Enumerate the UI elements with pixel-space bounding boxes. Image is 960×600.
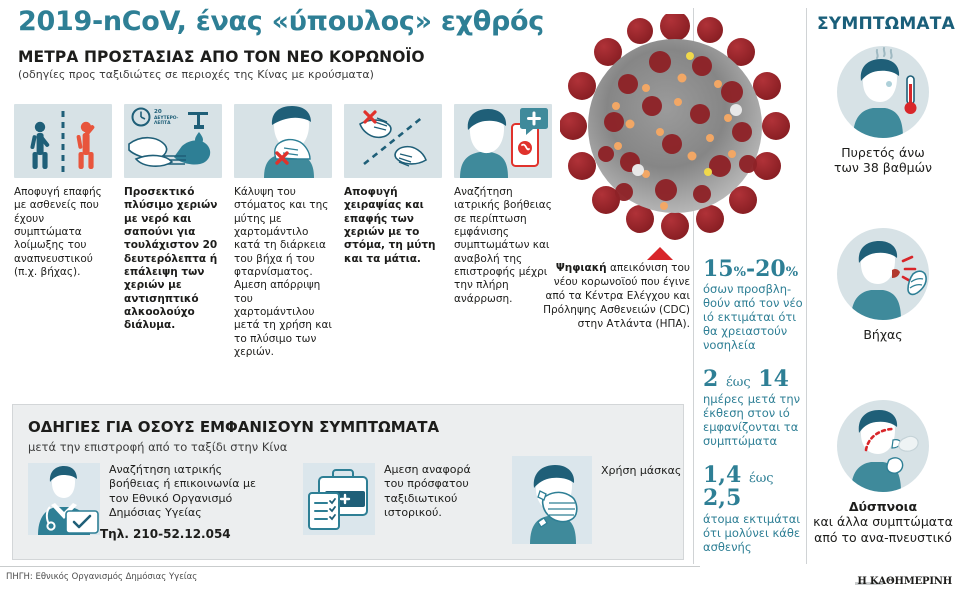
virus-pointer-arrow-icon [647, 247, 673, 260]
stat-2-text: ημέρες μετά την έκθεση στον ιό εμφανίζον… [703, 392, 803, 448]
symptom-2-line1: Βήχας [863, 327, 902, 342]
guide-text-1: Αναζήτηση ιατρικής βοήθειας ή επικοινωνί… [109, 463, 258, 520]
guide-subtitle: μετά την επιστροφή από το ταξίδι στην Κί… [28, 440, 287, 454]
stats-column: 15%-20% όσων προσβλη­θούν από τον νέο ιό… [703, 258, 803, 570]
handwashing-icon: 20 ΔΕΥΤΕΡΟ- ΛΕΠΤΑ [124, 104, 222, 178]
symptom-2-label: Βήχας [808, 327, 958, 342]
stat-1-connector: - [746, 256, 755, 282]
measures-columns: Αποφυγή επαφής με ασθενείς που έχουν συμ… [14, 104, 562, 359]
page-title: 2019-nCoV, ένας «ύπουλος» εχθρός [18, 6, 544, 37]
stat-item-1: 15%-20% όσων προσβλη­θούν από τον νέο ιό… [703, 258, 803, 352]
symptom-item-2: Βήχας [808, 228, 958, 342]
stat-3-value-b: 2,5 [703, 485, 741, 511]
divider-symptoms [806, 8, 807, 564]
fever-thermometer-icon [837, 46, 929, 138]
guide-item-2: Αμεση αναφορά του πρόσφατου ταξιδιωτικού… [303, 463, 483, 535]
guide-title: ΟΔΗΓΙΕΣ ΓΙΑ ΟΣΟΥΣ ΕΜΦΑΝΙΣΟΥΝ ΣΥΜΠΤΩΜΑΤΑ [28, 418, 439, 436]
symptom-1-label: Πυρετός άνω των 38 βαθμών [808, 145, 958, 176]
guide-item-3: Χρήση μάσκας [512, 456, 682, 544]
cough-icon [837, 228, 929, 320]
measure-item-1: Αποφυγή επαφής με ασθενείς που έχουν συμ… [14, 104, 112, 359]
guide-phone: Τηλ. 210-52.12.054 [100, 527, 258, 541]
stat-1-value-a: 15 [703, 256, 734, 282]
measures-heading: ΜΕΤΡΑ ΠΡΟΣΤΑΣΙΑΣ ΑΠΟ ΤΟΝ ΝΕΟ ΚΟΡΩΝΟΪΟ [18, 48, 425, 66]
symptoms-heading: ΣΥΜΠΤΩΜΑΤΑ [817, 14, 955, 34]
stat-item-3: 1,4 έως 2,5 άτομα εκτιμάται ότι μολύνει … [703, 464, 803, 553]
infographic-page: 2019-nCoV, ένας «ύπουλος» εχθρός ΜΕΤΡΑ Π… [0, 0, 960, 600]
stat-2-value-b: 14 [758, 366, 789, 392]
stat-3-text: άτομα εκτιμάται ότι μολύνει κάθε ασθενής [703, 512, 803, 554]
guide-text-2: Αμεση αναφορά του πρόσφατου ταξιδιωτικού… [384, 463, 483, 520]
measure-text-4: Αποφυγή χειραψίας και επαφής των χεριών … [344, 186, 442, 266]
virus-caption: Ψηφιακή απεικόνιση του νέου κορωνοϊού πο… [540, 262, 690, 332]
symptom-item-3: Δύσπνοια και άλλα συμπτώματα από το ανα-… [808, 400, 958, 545]
svg-text:20: 20 [154, 109, 162, 115]
shortness-of-breath-icon [837, 400, 929, 492]
source-text: ΠΗΓΗ: Εθνικός Οργανισμός Δημόσιας Υγείας [6, 572, 197, 582]
stat-1-unit-b: % [786, 265, 798, 280]
symptom-3-bold: Δύσπνοια [849, 499, 917, 514]
no-handshake-icon [344, 104, 442, 178]
svg-text:ΛΕΠΤΑ: ΛΕΠΤΑ [154, 120, 171, 126]
measure-text-5: Αναζήτηση ιατρικής βοήθειας σε περίπτωση… [454, 186, 552, 306]
symptom-item-1: Πυρετός άνω των 38 βαθμών [808, 46, 958, 176]
stat-2-connector: έως [726, 375, 751, 390]
footer-divider [0, 566, 700, 567]
measure-text-2: Προσεκτικό πλύσιμο χεριών με νερό και σα… [124, 186, 222, 333]
measure-text-1: Αποφυγή επαφής με ασθενείς που έχουν συμ… [14, 186, 112, 279]
virus-caption-bold: Ψηφιακή [556, 262, 607, 274]
stat-1-unit-a: % [734, 265, 746, 280]
doctor-checkmark-icon [28, 463, 100, 535]
stat-1-text: όσων προσβλη­θούν από τον νέο ιό εκτιμάτ… [703, 282, 803, 352]
guide-text-3: Χρήση μάσκας [601, 464, 681, 478]
symptom-3-line2: και άλλα συμπτώματα από το ανα-πνευστικό [813, 514, 953, 544]
measure-item-5: Αναζήτηση ιατρικής βοήθειας σε περίπτωση… [454, 104, 552, 359]
guide-item-1: Αναζήτηση ιατρικής βοήθειας ή επικοινωνί… [28, 463, 258, 541]
coronavirus-illustration [560, 14, 790, 246]
measure-text-3: Κάλυψη του στόματος και της μύτης με χαρ… [234, 186, 332, 359]
medical-report-icon [303, 463, 375, 535]
measure-item-4: Αποφυγή χειραψίας και επαφής των χεριών … [344, 104, 442, 359]
call-doctor-icon [454, 104, 552, 178]
measure-item-3: Κάλυψη του στόματος και της μύτης με χαρ… [234, 104, 332, 359]
stat-3-connector: έως [749, 471, 774, 486]
brand-name: Η ΚΑΘΗΜΕΡΙΝΗ [857, 576, 952, 587]
measure-item-2: 20 ΔΕΥΤΕΡΟ- ΛΕΠΤΑ Προσεκτικό πλύσιμο χερ… [124, 104, 222, 359]
stat-2-value-a: 2 [703, 366, 718, 392]
two-people-distance-icon [14, 104, 112, 178]
face-mask-icon [512, 456, 592, 544]
cover-mouth-icon [234, 104, 332, 178]
symptom-1-line2: των 38 βαθμών [834, 160, 932, 175]
stat-item-2: 2 έως 14 ημέρες μετά την έκθεση στον ιό … [703, 368, 803, 448]
symptom-1-line1: Πυρετός άνω [841, 145, 925, 160]
measures-subheading: (οδηγίες προς ταξιδιώτες σε περιοχές της… [18, 68, 374, 81]
symptom-3-label: Δύσπνοια και άλλα συμπτώματα από το ανα-… [808, 499, 958, 545]
stat-3-value-a: 1,4 [703, 462, 741, 488]
stat-1-value-b: 20 [755, 256, 786, 282]
